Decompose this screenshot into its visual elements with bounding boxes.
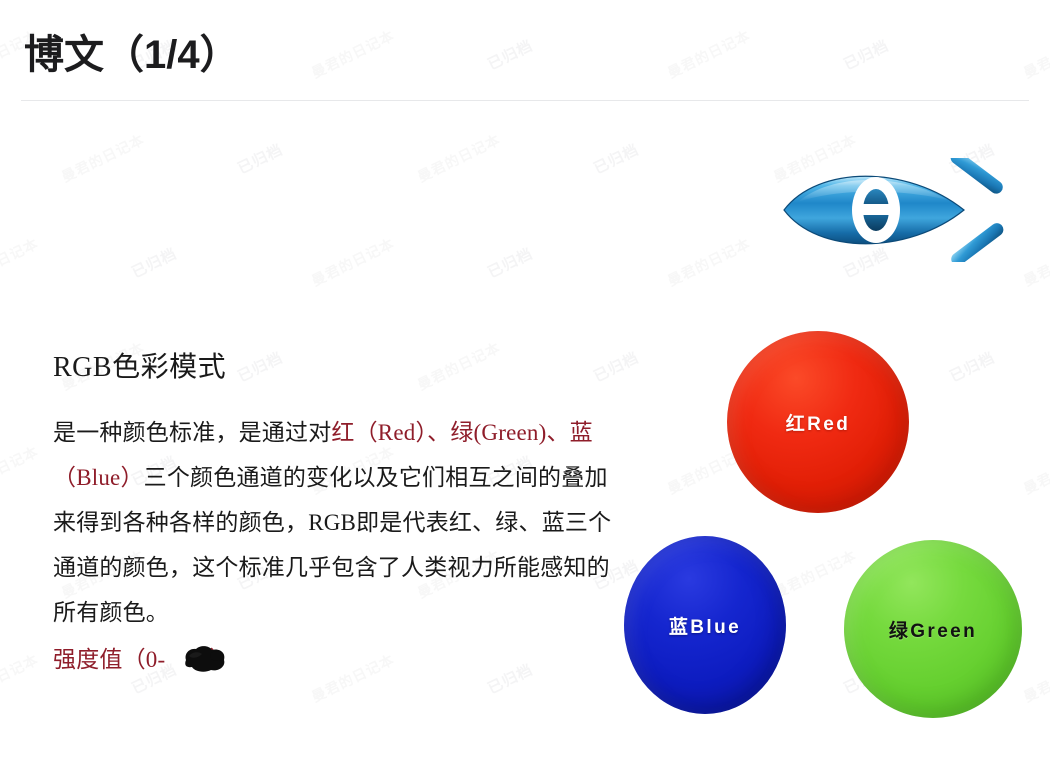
color-ball-red-label: 红Red (786, 409, 851, 436)
watermark-diary: 曼君的日记本 (664, 233, 754, 290)
page-title: 博文（1/4） (24, 22, 240, 80)
paragraph-lead: 是一种颜色标准，是通过对 (53, 420, 331, 445)
title-divider (21, 100, 1029, 101)
color-ball-red: 红Red (727, 331, 909, 513)
watermark-archived: 已归档 (128, 243, 180, 283)
watermark-diary: 曼君的日记本 (58, 129, 148, 186)
watermark-diary: 曼君的日记本 (0, 233, 42, 290)
watermark-diary: 曼君的日记本 (0, 649, 42, 706)
watermark-archived: 已归档 (946, 347, 998, 387)
watermark-diary: 曼君的日记本 (1020, 441, 1050, 498)
fish-eye-logo (778, 158, 1018, 262)
text-column: RGB色彩模式 是一种颜色标准，是通过对红（Red）、绿(Green)、蓝（Bl… (53, 352, 613, 682)
watermark-diary: 曼君的日记本 (1020, 649, 1050, 706)
watermark-archived: 已归档 (234, 139, 286, 179)
blue-fish-icon (778, 158, 1018, 262)
intensity-value-line: 强度值（0-） (53, 637, 613, 682)
fish-pupil-bar-icon (863, 204, 889, 215)
slide-page: 已归档曼君的日记本已归档曼君的日记本已归档曼君的日记本已归档曼君的日记本已归档曼… (0, 0, 1050, 758)
section-heading: RGB色彩模式 (53, 352, 613, 384)
body-paragraph: 是一种颜色标准，是通过对红（Red）、绿(Green)、蓝（Blue）三个颜色通… (53, 410, 613, 635)
watermark-archived: 已归档 (484, 243, 536, 283)
watermark-diary: 曼君的日记本 (770, 545, 860, 602)
watermark-diary: 曼君的日记本 (1020, 233, 1050, 290)
color-ball-green-label: 绿Green (889, 616, 977, 643)
intensity-label: 强度值（0- (53, 647, 165, 672)
watermark-diary: 曼君的日记本 (770, 753, 860, 758)
color-ball-blue: 蓝Blue (624, 536, 786, 714)
intensity-close-paren: ） (209, 647, 232, 672)
watermark-diary: 曼君的日记本 (0, 441, 42, 498)
watermark-diary: 曼君的日记本 (414, 129, 504, 186)
watermark-diary: 曼君的日记本 (58, 753, 148, 758)
slide-header: 博文（1/4） (0, 0, 1050, 102)
color-ball-green: 绿Green (844, 540, 1022, 718)
watermark-archived: 已归档 (590, 139, 642, 179)
watermark-diary: 曼君的日记本 (414, 753, 504, 758)
color-ball-blue-label: 蓝Blue (669, 612, 741, 639)
watermark-diary: 曼君的日记本 (308, 233, 398, 290)
